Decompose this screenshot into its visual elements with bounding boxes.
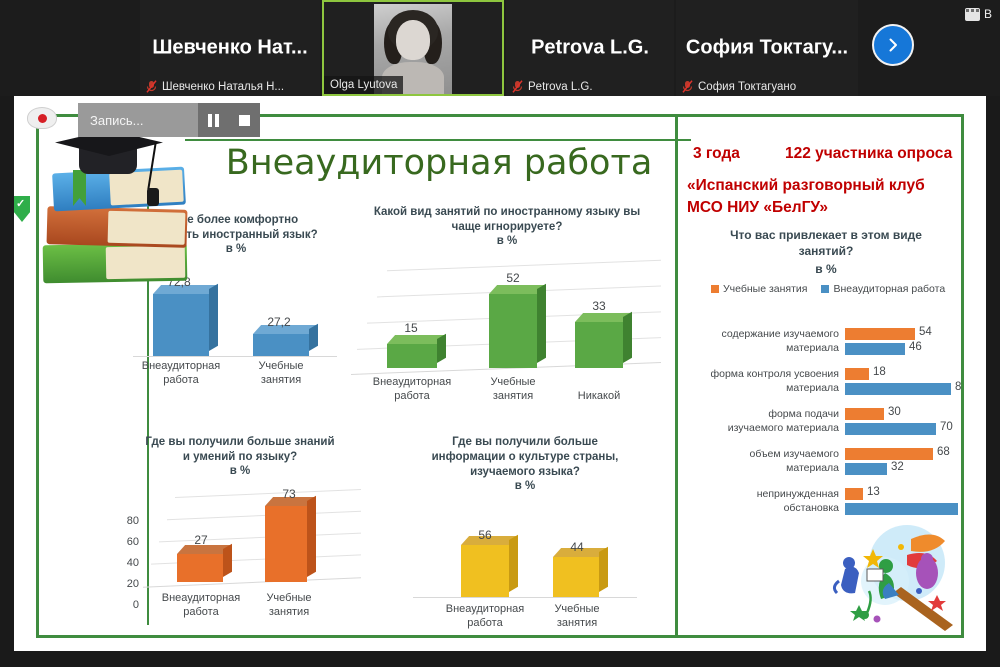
chart-attraction-title-line2: занятий? — [687, 243, 964, 259]
hbar-value-4-1: 87 — [962, 501, 964, 513]
chart-unit: в % — [115, 465, 365, 477]
chart-plot-area: 15 Внеаудиторная работа 52 Учебные занят… — [349, 255, 665, 413]
view-mode-button[interactable]: В — [961, 4, 996, 24]
participant-display-name-large: Petrova L.G. — [506, 37, 674, 60]
chart-plot-area: 80 60 40 20 0 27 Внеаудиторная работа — [115, 485, 365, 635]
chart-title-line1: Где вы получили больше знаний — [115, 435, 365, 450]
chevron-right-icon — [885, 37, 901, 53]
grid-view-icon — [965, 8, 980, 21]
recording-control-bar[interactable]: Запись... — [78, 103, 260, 137]
right-panel-club-line2: МСО НИУ «БелГУ» — [687, 197, 828, 219]
mic-muted-icon — [146, 80, 157, 93]
security-shield-icon — [14, 196, 30, 222]
y-tick-1: 60 — [115, 536, 139, 548]
legend-item-1: Внеаудиторная работа — [821, 283, 945, 295]
hbar-category-4: непринужденная обстановка — [679, 487, 839, 515]
y-tick-2: 40 — [115, 557, 139, 569]
hbar-value-1-0: 18 — [873, 366, 886, 378]
participant-tile-3[interactable]: София Токтагу... София Токтагуано — [676, 0, 858, 96]
bar-category-1: Учебные занятия — [532, 602, 622, 630]
legend-label-0: Учебные занятия — [723, 283, 807, 295]
next-participants-button[interactable] — [872, 24, 914, 66]
creative-arts-clipart — [815, 521, 964, 638]
participant-tile-2[interactable]: Petrova L.G. Petrova L.G. — [506, 0, 674, 96]
chart-attraction-unit: в % — [687, 261, 964, 277]
bar-1 — [265, 506, 307, 582]
hbar-2-series-0 — [845, 408, 884, 420]
chart-attraction-title-line1: Что вас привлекает в этом виде — [687, 227, 964, 243]
hbar-4-series-0 — [845, 488, 863, 500]
hbar-value-3-1: 32 — [891, 461, 904, 473]
chart-ignore: Какой вид занятий по иностранному языку … — [349, 205, 665, 413]
stop-icon — [239, 115, 250, 126]
bar-category-0: Внеаудиторная работа — [367, 375, 457, 403]
bar-0 — [387, 344, 437, 368]
hbar-category-3: объем изучаемого материала — [679, 447, 839, 475]
bar-value-1: 52 — [483, 271, 543, 285]
bar-value-1: 44 — [547, 540, 607, 554]
pause-recording-button[interactable] — [198, 103, 229, 137]
bar-category-1: Учебные занятия — [236, 359, 326, 387]
right-panel-years: 3 года — [693, 145, 740, 163]
bar-1 — [489, 294, 537, 368]
bar-value-0: 15 — [381, 321, 441, 335]
record-dot-icon — [28, 108, 56, 128]
bar-category-0: Внеаудиторная работа — [440, 602, 530, 630]
stop-recording-button[interactable] — [229, 103, 260, 137]
chart-title-line3: изучаемого языка? — [397, 465, 653, 480]
chart-title-line2: чаще игнорируете? — [349, 220, 665, 235]
bar-value-1: 73 — [259, 487, 319, 501]
hbar-2-series-1 — [845, 423, 936, 435]
hbar-0-series-0 — [845, 328, 915, 340]
hbar-0-series-1 — [845, 343, 905, 355]
legend-label-1: Внеаудиторная работа — [833, 283, 945, 295]
right-panel-participants-count: 122 участника опроса — [785, 145, 952, 163]
bar-value-1: 27,2 — [249, 315, 309, 329]
bar-category-1: Учебные занятия — [244, 591, 334, 619]
mic-muted-icon — [512, 80, 523, 93]
hbar-4-series-1 — [845, 503, 958, 515]
participant-display-name-large: Шевченко Нат... — [140, 37, 320, 60]
participant-name-bar: Petrova L.G. — [506, 77, 674, 96]
hbar-value-2-1: 70 — [940, 421, 953, 433]
bar-1 — [553, 557, 599, 597]
bar-1 — [253, 334, 309, 356]
mic-muted-icon — [682, 80, 693, 93]
legend-swatch-blue — [821, 285, 829, 293]
hbar-category-0: содержание изучаемого материала — [679, 327, 839, 355]
participant-tile-0[interactable]: Шевченко Нат... Шевченко Наталья Н... — [140, 0, 320, 96]
chart-title-line1: Какой вид занятий по иностранному языку … — [349, 205, 665, 220]
hbar-3-series-0 — [845, 448, 933, 460]
legend-swatch-orange — [711, 285, 719, 293]
participant-name-bar: Olga Lyutova — [324, 76, 403, 94]
y-tick-0: 80 — [115, 515, 139, 527]
hbar-value-4-0: 13 — [867, 486, 880, 498]
chart-title-line2: информации о культуре страны, — [397, 450, 653, 465]
bar-2 — [575, 322, 623, 368]
hbar-value-0-1: 46 — [909, 341, 922, 353]
chart-culture: Где вы получили больше информации о куль… — [397, 435, 653, 630]
y-tick-4: 0 — [115, 599, 139, 611]
presentation-slide: Внеаудиторная работа Где более комфортно… — [36, 114, 964, 638]
participant-tile-1-active-speaker[interactable]: Olga Lyutova — [322, 0, 504, 96]
title-divider — [185, 139, 691, 141]
bar-0 — [461, 545, 509, 597]
bar-0 — [153, 294, 209, 356]
hbar-category-2: форма подачи изучаемого материала — [679, 407, 839, 435]
hbar-value-3-0: 68 — [937, 446, 950, 458]
zoom-participant-filmstrip: Шевченко Нат... Шевченко Наталья Н... Ol… — [0, 0, 1000, 96]
recording-status-label: Запись... — [78, 113, 198, 128]
bar-category-0: Внеаудиторная работа — [136, 359, 226, 387]
hbar-value-0-0: 54 — [919, 326, 932, 338]
chart-knowledge: Где вы получили больше знаний и умений п… — [115, 435, 365, 635]
participant-name-bar: София Токтагуано — [676, 77, 858, 96]
hbar-value-1-1: 82 — [955, 381, 964, 393]
bar-category-1: Учебные занятия — [468, 375, 558, 403]
participant-name-text: Olga Lyutova — [330, 79, 397, 91]
hbar-1-series-1 — [845, 383, 951, 395]
hbar-value-2-0: 30 — [888, 406, 901, 418]
shared-screen-stage: Внеаудиторная работа Где более комфортно… — [14, 96, 986, 651]
chart-unit: в % — [397, 480, 653, 492]
participant-name-text: Шевченко Наталья Н... — [162, 81, 284, 93]
chart-attraction-legend: Учебные занятия Внеаудиторная работа — [711, 283, 945, 295]
bar-0 — [177, 554, 223, 582]
bar-value-0: 27 — [171, 533, 231, 547]
chart-title-line2: и умений по языку? — [115, 450, 365, 465]
hbar-category-1: форма контроля усвоения материала — [679, 367, 839, 395]
bar-value-2: 33 — [569, 299, 629, 313]
participant-display-name-large: София Токтагу... — [676, 37, 858, 60]
chart-unit: в % — [349, 235, 665, 247]
bottom-bar — [0, 651, 1000, 667]
chart-title-line1: Где вы получили больше — [397, 435, 653, 450]
participant-name-text: София Токтагуано — [698, 81, 796, 93]
books-graduation-cap-clipart — [39, 122, 189, 297]
bar-category-0: Внеаудиторная работа — [156, 591, 246, 619]
participant-name-bar: Шевченко Наталья Н... — [140, 77, 320, 96]
bar-value-0: 56 — [455, 528, 515, 542]
panel-divider-vertical — [675, 117, 678, 635]
hbar-3-series-1 — [845, 463, 887, 475]
right-panel-club-line1: «Испанский разговорный клуб — [687, 175, 925, 197]
chart-plot-area: 56 Внеаудиторная работа 44 Учебные занят… — [397, 498, 653, 630]
hbar-1-series-0 — [845, 368, 869, 380]
slide-title: Внеаудиторная работа — [189, 143, 689, 183]
bar-category-2: Никакой — [554, 389, 644, 403]
view-button-label: В — [984, 7, 992, 21]
participant-name-text: Petrova L.G. — [528, 81, 593, 93]
pause-icon — [208, 114, 219, 127]
legend-item-0: Учебные занятия — [711, 283, 807, 295]
y-tick-3: 20 — [115, 578, 139, 590]
